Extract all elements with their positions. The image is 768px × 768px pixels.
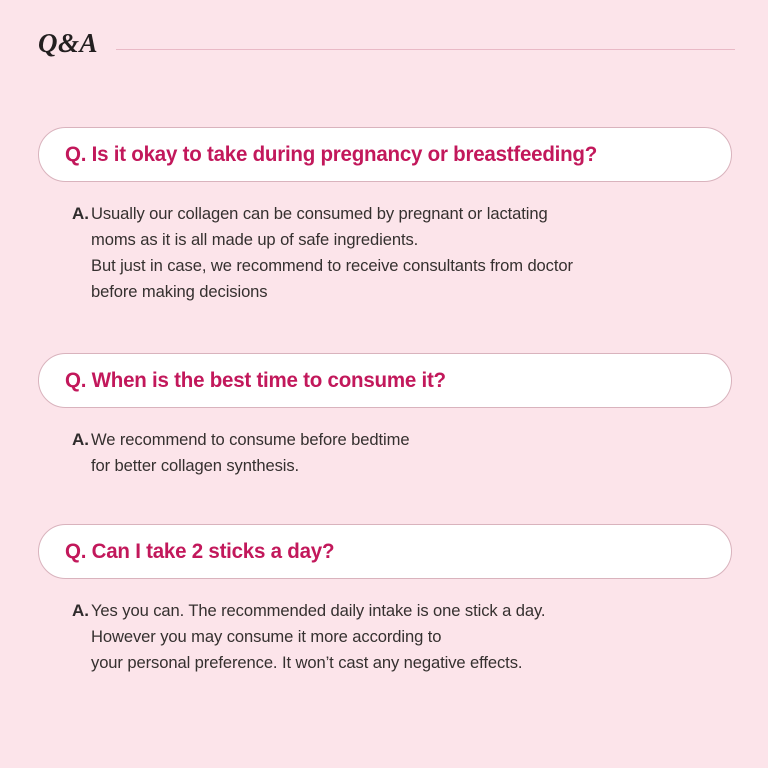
faq-item: Q. Can I take 2 sticks a day? A. Yes you… [38,524,732,676]
header-divider [116,49,735,50]
faq-answer-block: A. Usually our collagen can be consumed … [38,182,732,305]
faq-answer-marker: A. [72,427,89,453]
faq-answer-block: A. Yes you can. The recommended daily in… [38,579,732,676]
faq-answer-line: moms as it is all made up of safe ingred… [91,227,716,253]
faq-question-pill[interactable]: Q. Is it okay to take during pregnancy o… [38,127,732,182]
faq-answer-line: for better collagen synthesis. [91,453,716,479]
faq-question-text: Q. Can I take 2 sticks a day? [65,541,334,563]
faq-item: Q. When is the best time to consume it? … [38,353,732,479]
faq-answer-block: A. We recommend to consume before bedtim… [38,408,732,479]
page-title: Q&A [38,30,98,59]
faq-question-text: Q. Is it okay to take during pregnancy o… [65,144,597,166]
faq-answer-line: your personal preference. It won’t cast … [91,650,716,676]
faq-answer-line: Usually our collagen can be consumed by … [91,201,716,227]
faq-answer-line: before making decisions [91,279,716,305]
faq-answer-line: Yes you can. The recommended daily intak… [91,598,716,624]
faq-answer-lines: Usually our collagen can be consumed by … [89,201,732,305]
faq-answer-line: However you may consume it more accordin… [91,624,716,650]
faq-answer-lines: We recommend to consume before bedtime f… [89,427,732,479]
faq-answer-marker: A. [72,598,89,624]
faq-answer-marker: A. [72,201,89,227]
qa-page: Q&A Q. Is it okay to take during pregnan… [0,0,768,768]
faq-item: Q. Is it okay to take during pregnancy o… [38,127,732,305]
faq-answer-lines: Yes you can. The recommended daily intak… [89,598,732,676]
faq-answer-line: But just in case, we recommend to receiv… [91,253,716,279]
page-header: Q&A [38,26,735,62]
faq-answer-line: We recommend to consume before bedtime [91,427,716,453]
faq-question-text: Q. When is the best time to consume it? [65,370,446,392]
faq-question-pill[interactable]: Q. Can I take 2 sticks a day? [38,524,732,579]
faq-question-pill[interactable]: Q. When is the best time to consume it? [38,353,732,408]
